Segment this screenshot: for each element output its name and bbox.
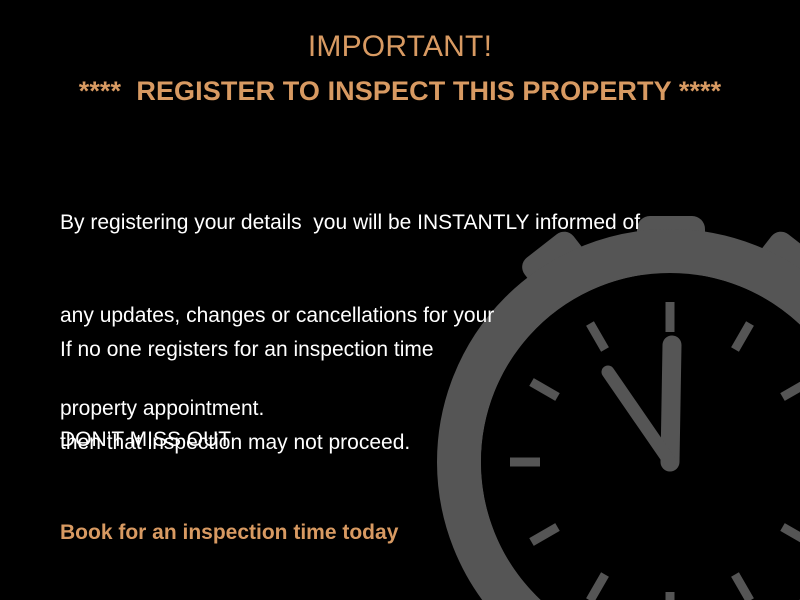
- text-layer: IMPORTANT! **** REGISTER TO INSPECT THIS…: [0, 0, 800, 600]
- paragraph-register-line-1: By registering your details you will be …: [60, 207, 640, 238]
- slide-canvas: IMPORTANT! **** REGISTER TO INSPECT THIS…: [0, 0, 800, 600]
- cta-line-book-inspection: Book for an inspection time today: [60, 517, 398, 548]
- page-title-important: IMPORTANT!: [0, 30, 800, 64]
- call-to-action-block: DON’T MISS OUT Book for an inspection ti…: [60, 362, 398, 600]
- page-title-register: **** REGISTER TO INSPECT THIS PROPERTY *…: [0, 75, 800, 107]
- cta-line-dont-miss-out: DON’T MISS OUT: [60, 424, 398, 455]
- paragraph-no-registration-line-1: If no one registers for an inspection ti…: [60, 334, 434, 365]
